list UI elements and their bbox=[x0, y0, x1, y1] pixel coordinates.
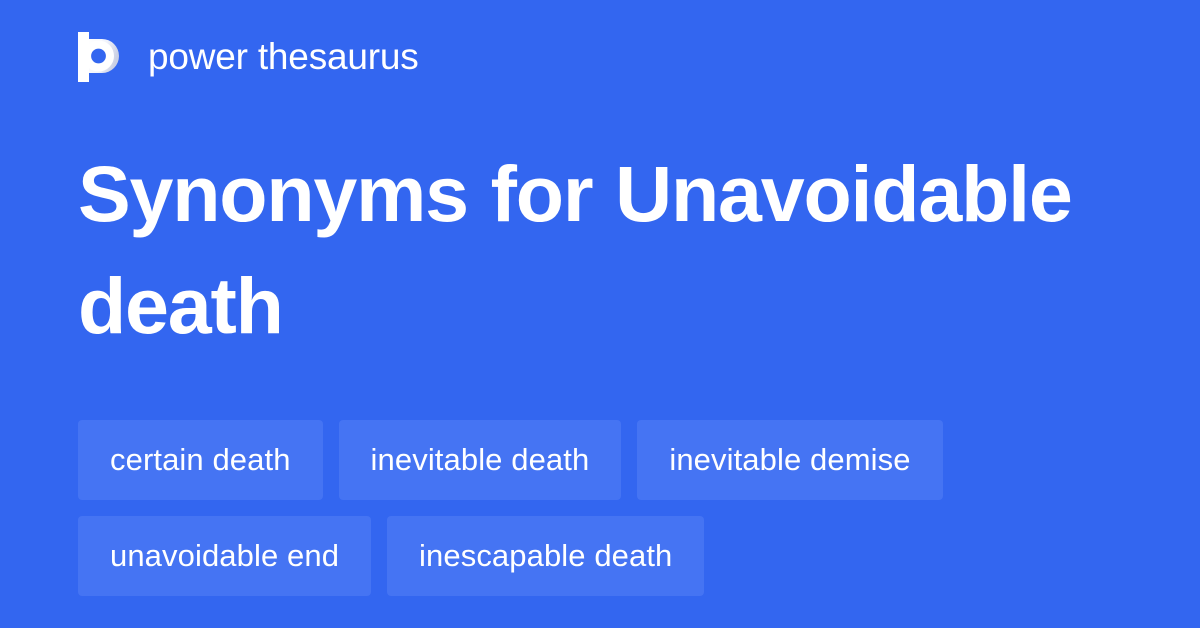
synonyms-share-card: power thesaurus Synonyms for Unavoidable… bbox=[0, 0, 1200, 628]
page-title: Synonyms for Unavoidable death bbox=[78, 138, 1138, 362]
brand-header[interactable]: power thesaurus bbox=[78, 28, 419, 86]
power-thesaurus-logo-icon bbox=[78, 32, 122, 82]
synonym-chip[interactable]: inescapable death bbox=[387, 516, 704, 596]
synonym-chip[interactable]: inevitable death bbox=[339, 420, 622, 500]
synonym-chip-list: certain death inevitable death inevitabl… bbox=[78, 420, 1138, 596]
synonym-chip[interactable]: unavoidable end bbox=[78, 516, 371, 596]
synonym-chip[interactable]: certain death bbox=[78, 420, 323, 500]
brand-name: power thesaurus bbox=[148, 37, 419, 77]
synonym-chip[interactable]: inevitable demise bbox=[637, 420, 942, 500]
